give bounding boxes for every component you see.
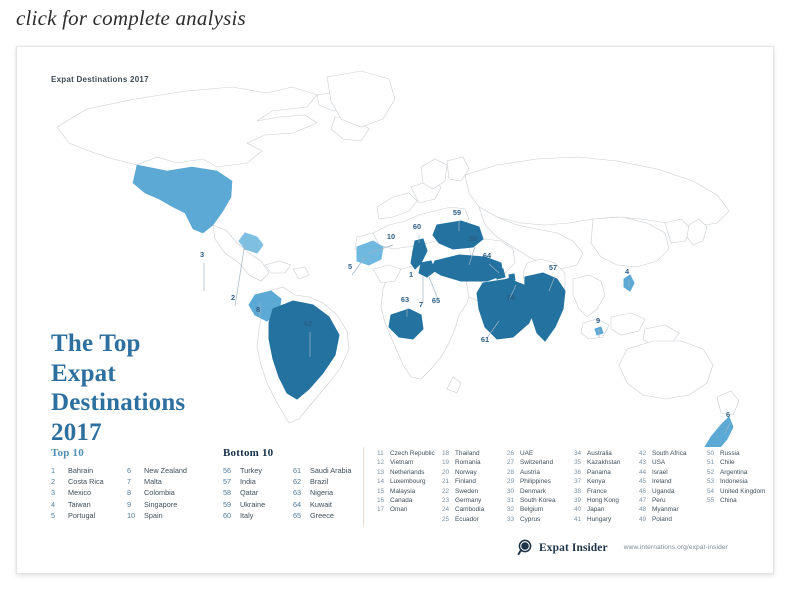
rank-row: 48Myanmar [639, 505, 686, 514]
rank-row: 32Belgium [507, 505, 556, 514]
full-list-column-6: 50Russia51Chile52Argentina53Indonesia54U… [707, 449, 765, 505]
map-rank-label-saudi-arabia: 61 [481, 335, 489, 344]
rank-country-name: South Korea [520, 496, 556, 505]
rank-country-name: Norway [455, 468, 477, 477]
rank-country-name: Uganda [652, 487, 674, 496]
page-title: The Top Expat Destinations 2017 [51, 329, 185, 447]
rank-number: 27 [507, 458, 520, 467]
rank-country-name: Greece [310, 510, 334, 521]
rank-row: 51Chile [707, 458, 765, 467]
rank-country-name: Russia [720, 449, 740, 458]
rank-row: 29Philippines [507, 477, 556, 486]
headline-line-1: The Top [51, 329, 185, 359]
rank-row: 9Singapore [127, 499, 187, 510]
rank-country-name: Panama [587, 468, 611, 477]
top10-column-1: 1Bahrain2Costa Rica3Mexico4Taiwan5Portug… [51, 465, 104, 521]
rank-number: 28 [507, 468, 520, 477]
rank-row: 42South Africa [639, 449, 686, 458]
rank-number: 54 [707, 487, 720, 496]
rank-row: 40Japan [574, 505, 620, 514]
rank-row: 55China [707, 496, 765, 505]
rank-row: 36Panama [574, 468, 620, 477]
rank-number: 30 [507, 487, 520, 496]
rank-number: 6 [127, 465, 144, 476]
rank-number: 5 [51, 510, 68, 521]
rank-number: 25 [442, 515, 455, 524]
rank-country-name: Peru [652, 496, 666, 505]
rank-row: 19Romania [442, 458, 484, 467]
rank-row: 31South Korea [507, 496, 556, 505]
rank-row: 50Russia [707, 449, 765, 458]
rank-row: 3Mexico [51, 487, 104, 498]
rank-number: 26 [507, 449, 520, 458]
rank-row: 45Ireland [639, 477, 686, 486]
rank-country-name: Luxembourg [390, 477, 426, 486]
rank-row: 61Saudi Arabia [293, 465, 351, 476]
map-rank-label-portugal: 5 [348, 262, 352, 271]
rank-number: 60 [223, 510, 240, 521]
headline-line-3: Destinations [51, 388, 185, 418]
rank-country-name: UAE [520, 449, 533, 458]
rank-row: 34Australia [574, 449, 620, 458]
rank-country-name: Kazakhstan [587, 458, 620, 467]
map-rank-label-malta: 7 [419, 300, 423, 309]
ranking-legend: Top 10 1Bahrain2Costa Rica3Mexico4Taiwan… [17, 443, 774, 538]
top10-column-2: 6New Zealand7Malta8Colombia9Singapore10S… [127, 465, 187, 521]
rank-row: 1Bahrain [51, 465, 104, 476]
full-list-column-3: 26UAE27Switzerland28Austria29Philippines… [507, 449, 556, 524]
rank-number: 57 [223, 476, 240, 487]
rank-number: 40 [574, 505, 587, 514]
rank-number: 33 [507, 515, 520, 524]
rank-row: 28Austria [507, 468, 556, 477]
rank-country-name: Switzerland [520, 458, 553, 467]
rank-number: 2 [51, 476, 68, 487]
map-rank-label-india: 57 [549, 263, 557, 272]
rank-country-name: Ukraine [240, 499, 265, 510]
rank-row: 44Israel [639, 468, 686, 477]
rank-number: 39 [574, 496, 587, 505]
rank-row: 6New Zealand [127, 465, 187, 476]
map-rank-label-ukraine: 59 [453, 208, 461, 217]
map-rank-label-brazil: 62 [304, 319, 312, 328]
rank-country-name: Hungary [587, 515, 611, 524]
rank-row: 14Luxembourg [377, 477, 435, 486]
map-rank-label-colombia: 8 [256, 305, 260, 314]
rank-row: 52Argentina [707, 468, 765, 477]
rank-number: 31 [507, 496, 520, 505]
map-rank-label-turkey: 56 [469, 234, 477, 243]
rank-row: 27Switzerland [507, 458, 556, 467]
rank-row: 49Poland [639, 515, 686, 524]
rank-row: 4Taiwan [51, 499, 104, 510]
bottom10-column-1: 56Turkey57India58Qatar59Ukraine60Italy [223, 465, 265, 521]
rank-country-name: Argentina [720, 468, 747, 477]
rank-number: 45 [639, 477, 652, 486]
rank-row: 13Netherlands [377, 468, 435, 477]
map-rank-label-bahrain: 1 [409, 270, 413, 279]
rank-number: 20 [442, 468, 455, 477]
rank-number: 42 [639, 449, 652, 458]
rank-number: 58 [223, 487, 240, 498]
rank-number: 13 [377, 468, 390, 477]
rank-number: 38 [574, 487, 587, 496]
rank-number: 43 [639, 458, 652, 467]
full-list-column-4: 34Australia35Kazakhstan36Panama37Kenya38… [574, 449, 620, 524]
rank-number: 36 [574, 468, 587, 477]
map-rank-label-taiwan: 4 [625, 267, 630, 276]
map-rank-label-new-zealand: 6 [726, 410, 730, 419]
country-bahrain [509, 274, 515, 281]
rank-number: 34 [574, 449, 587, 458]
rank-country-name: Kenya [587, 477, 605, 486]
rank-row: 62Brazil [293, 476, 351, 487]
rank-number: 4 [51, 499, 68, 510]
rank-country-name: Qatar [240, 487, 258, 498]
country-mexico [133, 165, 232, 233]
rank-country-name: Romania [455, 458, 481, 467]
rank-country-name: Vietnam [390, 458, 413, 467]
rank-number: 1 [51, 465, 68, 476]
rank-number: 46 [639, 487, 652, 496]
rank-number: 12 [377, 458, 390, 467]
rank-country-name: Canada [390, 496, 412, 505]
rank-number: 41 [574, 515, 587, 524]
rank-number: 9 [127, 499, 144, 510]
rank-number: 48 [639, 505, 652, 514]
rank-country-name: Taiwan [68, 499, 91, 510]
rank-number: 17 [377, 505, 390, 514]
map-rank-label-greece: 65 [432, 296, 440, 305]
rank-row: 46Uganda [639, 487, 686, 496]
rank-country-name: Chile [720, 458, 735, 467]
map-rank-label-spain: 10 [387, 232, 395, 241]
rank-number: 15 [377, 487, 390, 496]
rank-country-name: Kuwait [310, 499, 332, 510]
rank-number: 55 [707, 496, 720, 505]
rank-number: 29 [507, 477, 520, 486]
rank-row: 26UAE [507, 449, 556, 458]
rank-row: 59Ukraine [223, 499, 265, 510]
rank-country-name: Hong Kong [587, 496, 619, 505]
full-list-column-2: 18Thailand19Romania20Norway21Finland22Sw… [442, 449, 484, 524]
rank-row: 57India [223, 476, 265, 487]
rank-number: 56 [223, 465, 240, 476]
rank-country-name: Philippines [520, 477, 551, 486]
rank-number: 51 [707, 458, 720, 467]
rank-country-name: Belgium [520, 505, 543, 514]
rank-country-name: USA [652, 458, 665, 467]
rank-row: 63Nigeria [293, 487, 351, 498]
rank-row: 37Kenya [574, 477, 620, 486]
expat-destinations-infographic: Expat Destinations 2017 [17, 47, 774, 574]
rank-number: 24 [442, 505, 455, 514]
rank-country-name: Spain [144, 510, 163, 521]
rank-row: 22Sweden [442, 487, 484, 496]
headline-line-2: Expat [51, 359, 185, 389]
map-rank-label-kuwait: 64 [483, 251, 492, 260]
rank-number: 18 [442, 449, 455, 458]
map-rank-label-mexico: 3 [200, 250, 204, 259]
rank-row: 8Colombia [127, 487, 187, 498]
rank-country-name: Malaysia [390, 487, 415, 496]
map-rank-label-nigeria: 63 [401, 295, 409, 304]
rank-row: 39Hong Kong [574, 496, 620, 505]
rank-country-name: Poland [652, 515, 672, 524]
rank-row: 11Czech Republic [377, 449, 435, 458]
rank-country-name: Ireland [652, 477, 672, 486]
rank-country-name: Denmark [520, 487, 546, 496]
rank-number: 64 [293, 499, 310, 510]
country-india [525, 273, 565, 341]
rank-country-name: Sweden [455, 487, 478, 496]
rank-country-name: Israel [652, 468, 668, 477]
rank-row: 15Malaysia [377, 487, 435, 496]
brand-footer[interactable]: Expat Insider www.internations.org/expat… [517, 539, 728, 556]
rank-number: 7 [127, 476, 144, 487]
rank-country-name: Costa Rica [68, 476, 104, 487]
rank-country-name: Bahrain [68, 465, 93, 476]
rank-country-name: Netherlands [390, 468, 424, 477]
rank-row: 23Germany [442, 496, 484, 505]
rank-country-name: Cyprus [520, 515, 540, 524]
rank-number: 32 [507, 505, 520, 514]
rank-country-name: South Africa [652, 449, 686, 458]
rank-number: 44 [639, 468, 652, 477]
rank-number: 11 [377, 449, 390, 458]
rank-row: 20Norway [442, 468, 484, 477]
legend-divider-left [363, 447, 364, 527]
rank-country-name: Cambodia [455, 505, 484, 514]
rank-row: 41Hungary [574, 515, 620, 524]
rank-row: 24Cambodia [442, 505, 484, 514]
rank-country-name: China [720, 496, 737, 505]
rank-row: 10Spain [127, 510, 187, 521]
rank-country-name: India [240, 476, 256, 487]
rank-row: 60Italy [223, 510, 265, 521]
map-rank-label-italy: 60 [413, 222, 421, 231]
rank-row: 16Canada [377, 496, 435, 505]
magnifier-globe-icon [517, 539, 534, 556]
rank-country-name: Turkey [240, 465, 262, 476]
map-rank-label-qatar: 58 [507, 293, 515, 302]
rank-number: 22 [442, 487, 455, 496]
rank-number: 49 [639, 515, 652, 524]
rank-number: 19 [442, 458, 455, 467]
brand-url[interactable]: www.internations.org/expat-insider [624, 544, 728, 551]
rank-number: 52 [707, 468, 720, 477]
infographic-card[interactable]: Expat Destinations 2017 [16, 46, 774, 574]
rank-country-name: Germany [455, 496, 481, 505]
rank-row: 53Indonesia [707, 477, 765, 486]
rank-row: 54United Kingdom [707, 487, 765, 496]
rank-country-name: Portugal [68, 510, 95, 521]
rank-country-name: Indonesia [720, 477, 748, 486]
rank-country-name: Saudi Arabia [310, 465, 351, 476]
rank-country-name: Myanmar [652, 505, 679, 514]
rank-number: 65 [293, 510, 310, 521]
rank-number: 37 [574, 477, 587, 486]
rank-country-name: Japan [587, 505, 604, 514]
rank-row: 38France [574, 487, 620, 496]
map-rank-label-singapore: 9 [596, 316, 600, 325]
rank-country-name: Mexico [68, 487, 91, 498]
rank-row: 56Turkey [223, 465, 265, 476]
rank-row: 65Greece [293, 510, 351, 521]
top10-heading: Top 10 [51, 447, 84, 459]
rank-country-name: France [587, 487, 607, 496]
rank-row: 18Thailand [442, 449, 484, 458]
rank-country-name: Singapore [144, 499, 177, 510]
rank-country-name: Italy [240, 510, 253, 521]
rank-country-name: Thailand [455, 449, 480, 458]
rank-row: 5Portugal [51, 510, 104, 521]
full-list-column-1: 11Czech Republic12Vietnam13Netherlands14… [377, 449, 435, 515]
rank-country-name: Nigeria [310, 487, 333, 498]
rank-number: 23 [442, 496, 455, 505]
rank-country-name: Brazil [310, 476, 328, 487]
rank-row: 30Denmark [507, 487, 556, 496]
rank-number: 14 [377, 477, 390, 486]
rank-number: 63 [293, 487, 310, 498]
rank-country-name: New Zealand [144, 465, 187, 476]
full-list-column-5: 42South Africa43USA44Israel45Ireland46Ug… [639, 449, 686, 524]
rank-row: 25Ecuador [442, 515, 484, 524]
rank-row: 47Peru [639, 496, 686, 505]
rank-country-name: Austria [520, 468, 540, 477]
rank-country-name: Malta [144, 476, 162, 487]
rank-number: 53 [707, 477, 720, 486]
rank-number: 8 [127, 487, 144, 498]
rank-country-name: Colombia [144, 487, 175, 498]
rank-number: 47 [639, 496, 652, 505]
rank-country-name: Oman [390, 505, 407, 514]
rank-row: 58Qatar [223, 487, 265, 498]
rank-number: 3 [51, 487, 68, 498]
rank-row: 43USA [639, 458, 686, 467]
rank-row: 33Cyprus [507, 515, 556, 524]
rank-number: 59 [223, 499, 240, 510]
rank-number: 35 [574, 458, 587, 467]
rank-row: 21Finland [442, 477, 484, 486]
rank-row: 17Oman [377, 505, 435, 514]
rank-country-name: United Kingdom [720, 487, 765, 496]
rank-number: 62 [293, 476, 310, 487]
rank-number: 10 [127, 510, 144, 521]
brand-name: Expat Insider [539, 542, 608, 554]
rank-row: 2Costa Rica [51, 476, 104, 487]
rank-number: 16 [377, 496, 390, 505]
rank-row: 7Malta [127, 476, 187, 487]
bottom10-column-2: 61Saudi Arabia62Brazil63Nigeria64Kuwait6… [293, 465, 351, 521]
rank-country-name: Ecuador [455, 515, 479, 524]
rank-country-name: Australia [587, 449, 612, 458]
rank-row: 12Vietnam [377, 458, 435, 467]
rank-number: 61 [293, 465, 310, 476]
rank-country-name: Finland [455, 477, 476, 486]
bottom10-heading: Bottom 10 [223, 447, 273, 459]
rank-row: 64Kuwait [293, 499, 351, 510]
page-caption[interactable]: click for complete analysis [16, 6, 246, 31]
rank-number: 50 [707, 449, 720, 458]
map-rank-label-costa-rica: 2 [231, 293, 235, 302]
rank-number: 21 [442, 477, 455, 486]
rank-row: 35Kazakhstan [574, 458, 620, 467]
rank-country-name: Czech Republic [390, 449, 435, 458]
